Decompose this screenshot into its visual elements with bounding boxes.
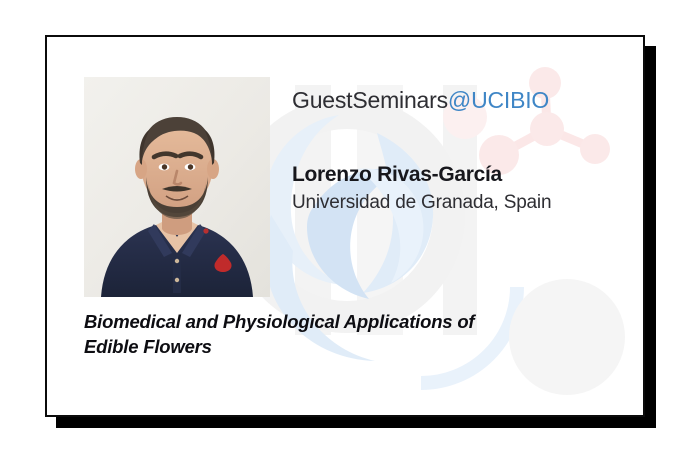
announcement-card: GuestSeminars@UCIBIO Lorenzo Rivas-Garcí… <box>45 35 645 417</box>
speaker-name: Lorenzo Rivas-García <box>292 161 632 188</box>
seminar-announcement-poster: GuestSeminars@UCIBIO Lorenzo Rivas-Garcí… <box>0 0 690 452</box>
series-brand-accent: @UCIBIO <box>448 87 549 113</box>
series-brand-prefix: GuestSeminars <box>292 87 448 113</box>
speaker-photo <box>84 77 270 297</box>
talk-title-line-1: Biomedical and Physiological Application… <box>84 309 614 334</box>
speaker-affiliation: Universidad de Granada, Spain <box>292 190 632 216</box>
speaker-text-block: GuestSeminars@UCIBIO Lorenzo Rivas-Garcí… <box>292 85 632 216</box>
series-brand-line: GuestSeminars@UCIBIO <box>292 85 632 115</box>
talk-title: Biomedical and Physiological Application… <box>84 309 614 359</box>
talk-title-line-2: Edible Flowers <box>84 334 614 359</box>
